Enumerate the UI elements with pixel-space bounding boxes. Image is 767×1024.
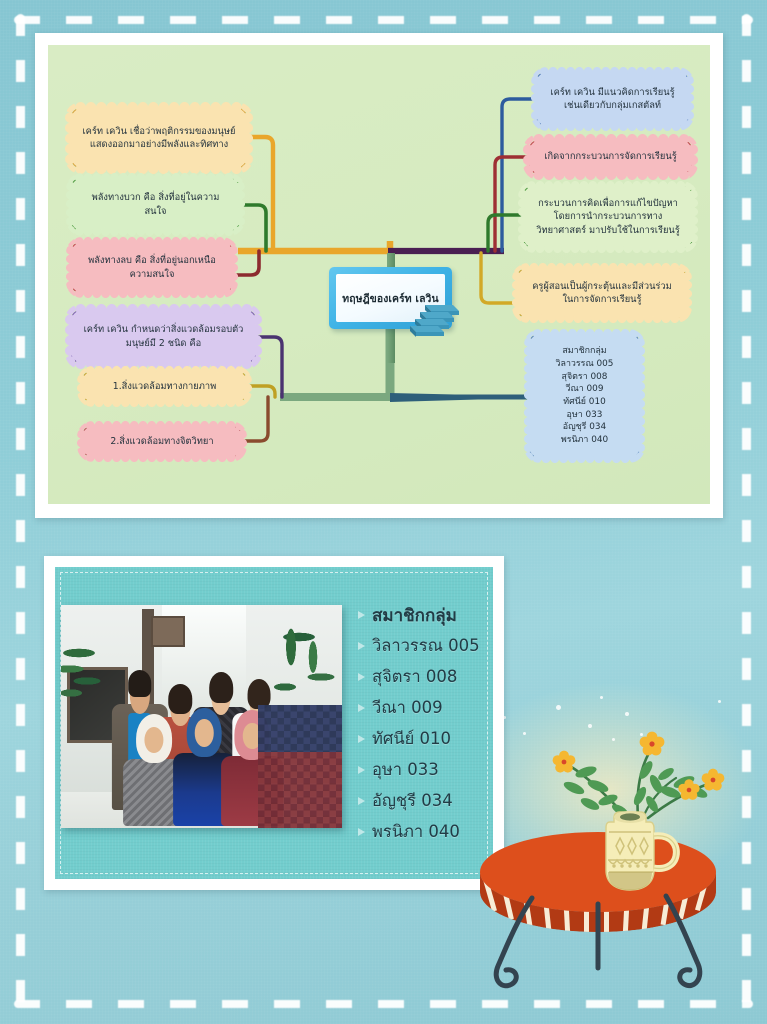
bullet-arrow-icon [358,642,365,650]
member-list-item: สุจิตรา 008 [358,663,480,691]
photo-pixelated-region [258,705,342,828]
member-list-item: พรนิภา 040 [358,818,480,846]
bullet-arrow-icon [358,673,365,681]
dashed-border-left [16,14,25,1010]
decoration-table-vase [470,700,767,1010]
center-node[interactable]: ทฤษฎีของเคร์ท เลวิน [329,267,452,329]
photo-panel: สมาชิกกลุ่ม วิลาวรรณ 005 สุจิตรา 008 วีณ… [55,567,493,879]
table-with-flower-vase-illustration [470,700,767,1010]
bullet-arrow-icon [358,704,365,712]
mindmap-canvas: เคร์ท เควิน เชื่อว่าพฤติกรรมของมนุษย์ แส… [48,45,710,504]
members-node-text: สมาชิกกลุ่ม วิลาวรรณ 005 สุจิตรา 008 วีณ… [535,345,634,446]
mindmap-node-left-2[interactable]: พลังทางบวก คือ สิ่งที่อยู่ในความสนใจ [70,177,241,232]
member-label: วิลาวรรณ 005 [372,633,480,659]
bullet-arrow-icon [358,828,365,836]
node-label: พลังทางลบ คือ สิ่งที่อยู่นอกเหนือความสนใ… [81,254,223,280]
mindmap-node-left-5[interactable]: 1.สิ่งแวดล้อมทางกายภาพ [81,370,248,403]
group-photo-scene [61,605,342,828]
member-list-item: วิลาวรรณ 005 [358,632,480,660]
mindmap-node-left-4[interactable]: เคร์ท เควิน กำหนดว่าสิ่งแวดล้อมรอบตัวมนุ… [70,309,257,364]
member-label: พรนิภา 040 [372,819,460,845]
mindmap-card: เคร์ท เควิน เชื่อว่าพฤติกรรมของมนุษย์ แส… [35,33,723,518]
round-table-icon [480,832,716,986]
node-label: กระบวนการคิดเพื่อการแก้ไขปัญหา โดยการนำก… [533,197,683,237]
node-label: เกิดจากกระบวนการจัดการเรียนรู้ [539,150,682,163]
member-list: สมาชิกกลุ่ม วิลาวรรณ 005 สุจิตรา 008 วีณ… [358,601,480,846]
member-list-item: วีณา 009 [358,694,480,722]
node-label: เคร์ท เควิน มีแนวคิดการเรียนรู้เช่นเดียว… [546,86,679,112]
photo-wall-frame [151,616,185,647]
mindmap-node-members[interactable]: สมาชิกกลุ่ม วิลาวรรณ 005 สุจิตรา 008 วีณ… [528,333,641,459]
mindmap-node-left-3[interactable]: พลังทางลบ คือ สิ่งที่อยู่นอกเหนือความสนใ… [70,241,234,294]
member-label: อุษา 033 [372,757,439,783]
node-label: ครูผู้สอนเป็นผู้กระตุ้นและมีส่วนร่วมในกา… [527,280,677,306]
bullet-arrow-icon [358,735,365,743]
node-label: 1.สิ่งแวดล้อมทางกายภาพ [92,380,237,393]
member-label: อัญชุรี 034 [372,788,453,814]
sparkle-dot [600,696,603,699]
mindmap-node-right-4[interactable]: ครูผู้สอนเป็นผู้กระตุ้นและมีส่วนร่วมในกา… [516,267,688,319]
node-label: เคร์ท เควิน เชื่อว่าพฤติกรรมของมนุษย์ แส… [81,125,237,151]
member-label: ทัศนีย์ 010 [372,726,451,752]
dashed-border-top [14,16,753,24]
bullet-arrow-icon [358,797,365,805]
group-photo [61,605,342,828]
flowers-icon [553,732,725,820]
member-list-item: อัญชุรี 034 [358,787,480,815]
member-list-item: อุษา 033 [358,756,480,784]
member-label: สุจิตรา 008 [372,664,457,690]
member-list-heading: สมาชิกกลุ่ม [358,601,480,629]
node-label: เคร์ท เควิน กำหนดว่าสิ่งแวดล้อมรอบตัวมนุ… [81,323,246,349]
node-label: พลังทางบวก คือ สิ่งที่อยู่ในความสนใจ [81,191,230,217]
bullet-arrow-icon [358,766,365,774]
mindmap-node-right-1[interactable]: เคร์ท เควิน มีแนวคิดการเรียนรู้เช่นเดียว… [535,71,690,127]
node-label: 2.สิ่งแวดล้อมทางจิตวิทยา [92,435,232,448]
photo-plant-left [61,641,109,717]
books-icon [409,303,461,337]
photo-card: สมาชิกกลุ่ม วิลาวรรณ 005 สุจิตรา 008 วีณ… [44,556,504,890]
mindmap-node-right-3[interactable]: กระบวนการคิดเพื่อการแก้ไขปัญหา โดยการนำก… [522,185,694,249]
member-label: วีณา 009 [372,695,443,721]
bullet-arrow-icon [358,611,365,619]
member-label: สมาชิกกลุ่ม [372,602,457,629]
mindmap-node-left-6[interactable]: 2.สิ่งแวดล้อมทางจิตวิทยา [81,425,243,458]
member-list-item: ทัศนีย์ 010 [358,725,480,753]
mindmap-node-left-1[interactable]: เคร์ท เควิน เชื่อว่าพฤติกรรมของมนุษย์ แส… [70,107,248,169]
mindmap-node-right-2[interactable]: เกิดจากกระบวนการจัดการเรียนรู้ [528,139,693,175]
